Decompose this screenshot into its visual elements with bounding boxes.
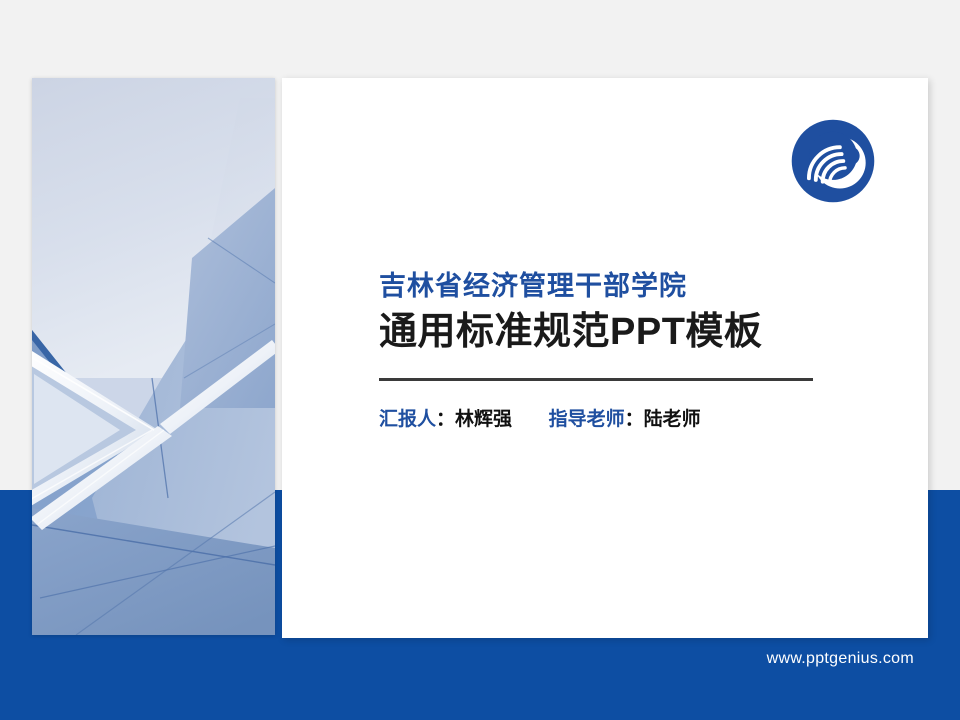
advisor-label: 指导老师: [549, 409, 625, 430]
institution-name: 吉林省经济管理干部学院: [379, 270, 859, 302]
university-logo-icon: [790, 118, 876, 204]
page-title: 通用标准规范PPT模板: [379, 310, 859, 356]
architecture-photo: [32, 78, 275, 635]
presenter-value: ：林辉强: [436, 409, 512, 430]
content-card: 吉林省经济管理干部学院 通用标准规范PPT模板 汇报人：林辉强 指导老师：陆老师: [282, 78, 928, 638]
title-divider: [379, 378, 813, 381]
presentation-slide: 吉林省经济管理干部学院 通用标准规范PPT模板 汇报人：林辉强 指导老师：陆老师…: [0, 0, 960, 720]
title-block: 吉林省经济管理干部学院 通用标准规范PPT模板 汇报人：林辉强 指导老师：陆老师: [379, 270, 859, 433]
advisor-value: ：陆老师: [625, 409, 701, 430]
presenter-label: 汇报人: [379, 409, 436, 430]
presenter-line: 汇报人：林辉强 指导老师：陆老师: [379, 408, 859, 433]
footer-website-url: www.pptgenius.com: [767, 650, 914, 668]
cover-photo-panel: [32, 78, 275, 635]
